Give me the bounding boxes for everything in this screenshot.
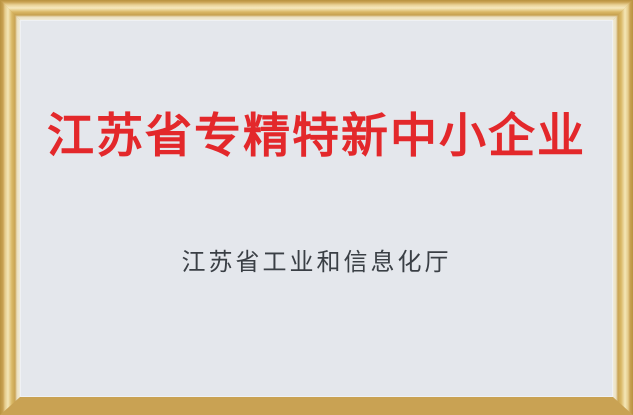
- frame-top-bevel: [0, 0, 633, 20]
- frame-right-bevel: [613, 0, 633, 415]
- award-plaque: 江苏省专精特新中小企业 江苏省工业和信息化厅: [0, 0, 633, 415]
- frame-left-bevel: [0, 0, 20, 415]
- plaque-board: 江苏省专精特新中小企业 江苏省工业和信息化厅: [20, 20, 613, 397]
- plaque-issuer: 江苏省工业和信息化厅: [20, 247, 613, 278]
- frame-bottom-bevel: [0, 397, 633, 415]
- plaque-title: 江苏省专精特新中小企业: [20, 108, 613, 167]
